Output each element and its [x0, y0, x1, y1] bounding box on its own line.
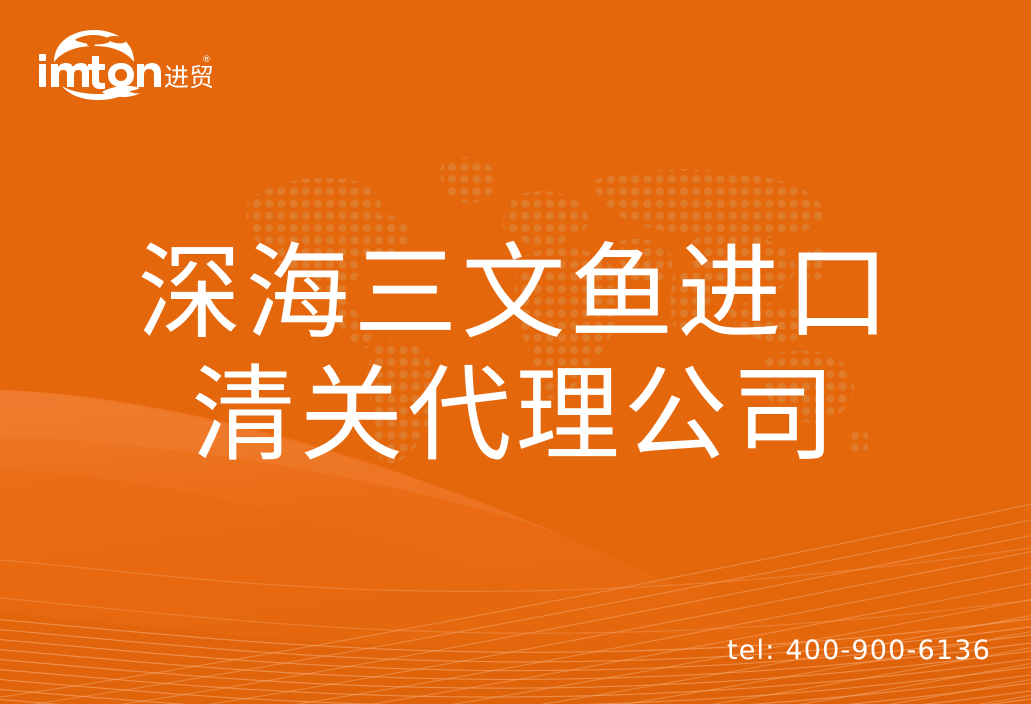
registered-trademark-icon: ®: [202, 55, 211, 65]
headline-line-1: 深海三文鱼进口: [0, 232, 1031, 354]
imton-wordmark: [39, 54, 161, 89]
contact-phone[interactable]: tel: 400-900-6136: [727, 635, 991, 666]
logo-chinese-name: 进贸通: [164, 63, 212, 92]
headline: 深海三文鱼进口 清关代理公司: [0, 232, 1031, 476]
imton-logo[interactable]: 进贸通 ®: [36, 28, 212, 100]
headline-line-2: 清关代理公司: [0, 354, 1031, 476]
promo-banner: 进贸通 ® 深海三文鱼进口 清关代理公司 tel: 400-900-6136: [0, 0, 1031, 704]
